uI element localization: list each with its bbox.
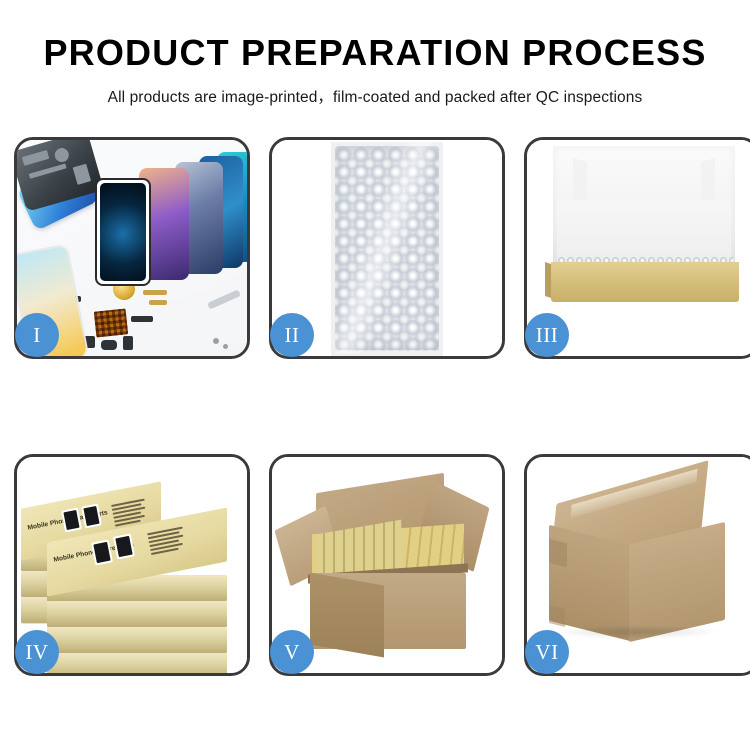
process-step-1[interactable]: I: [14, 137, 250, 359]
carton-tape-patch-lower: [549, 605, 565, 627]
process-step-grid: I II III: [0, 137, 750, 676]
part-screw-2: [223, 344, 228, 349]
part-screw-1: [213, 338, 219, 344]
process-step-6[interactable]: VI: [524, 454, 750, 676]
part-ribbon: [131, 316, 153, 322]
page-title: PRODUCT PREPARATION PROCESS: [0, 34, 750, 72]
stacked-box-b3: [47, 627, 227, 653]
part-chip-grid: [94, 308, 129, 337]
stacked-box-b2: [47, 601, 227, 627]
process-step-5[interactable]: V: [269, 454, 505, 676]
step-2-badge: II: [270, 313, 314, 357]
inner-box-body: [551, 262, 739, 302]
carton-shadow: [551, 625, 721, 639]
carton-tape-patch-upper: [549, 539, 567, 567]
page-subtitle: All products are image-printed，film-coat…: [0, 85, 750, 107]
part-tweezers: [207, 289, 241, 309]
bubble-wrap-sheen: [335, 140, 439, 354]
process-step-2[interactable]: II: [269, 137, 505, 359]
phone-white-screen: [95, 178, 151, 286]
process-step-4[interactable]: Mobile Phone Spare Parts Mobile Phone Sp…: [14, 454, 250, 676]
part-camera: [123, 336, 133, 350]
step-5-badge: V: [270, 630, 314, 674]
step-1-badge: I: [15, 313, 59, 357]
step-6-badge: VI: [525, 630, 569, 674]
step-3-badge: III: [525, 313, 569, 357]
part-flex-cable-1: [143, 290, 167, 295]
part-flex-cable-2: [149, 300, 167, 305]
page-header: PRODUCT PREPARATION PROCESS All products…: [0, 0, 750, 107]
process-step-3[interactable]: III: [524, 137, 750, 359]
carton-front-face: [310, 572, 384, 657]
part-button: [101, 340, 117, 350]
step-4-badge: IV: [15, 630, 59, 674]
stacked-box-b4: [47, 653, 227, 673]
